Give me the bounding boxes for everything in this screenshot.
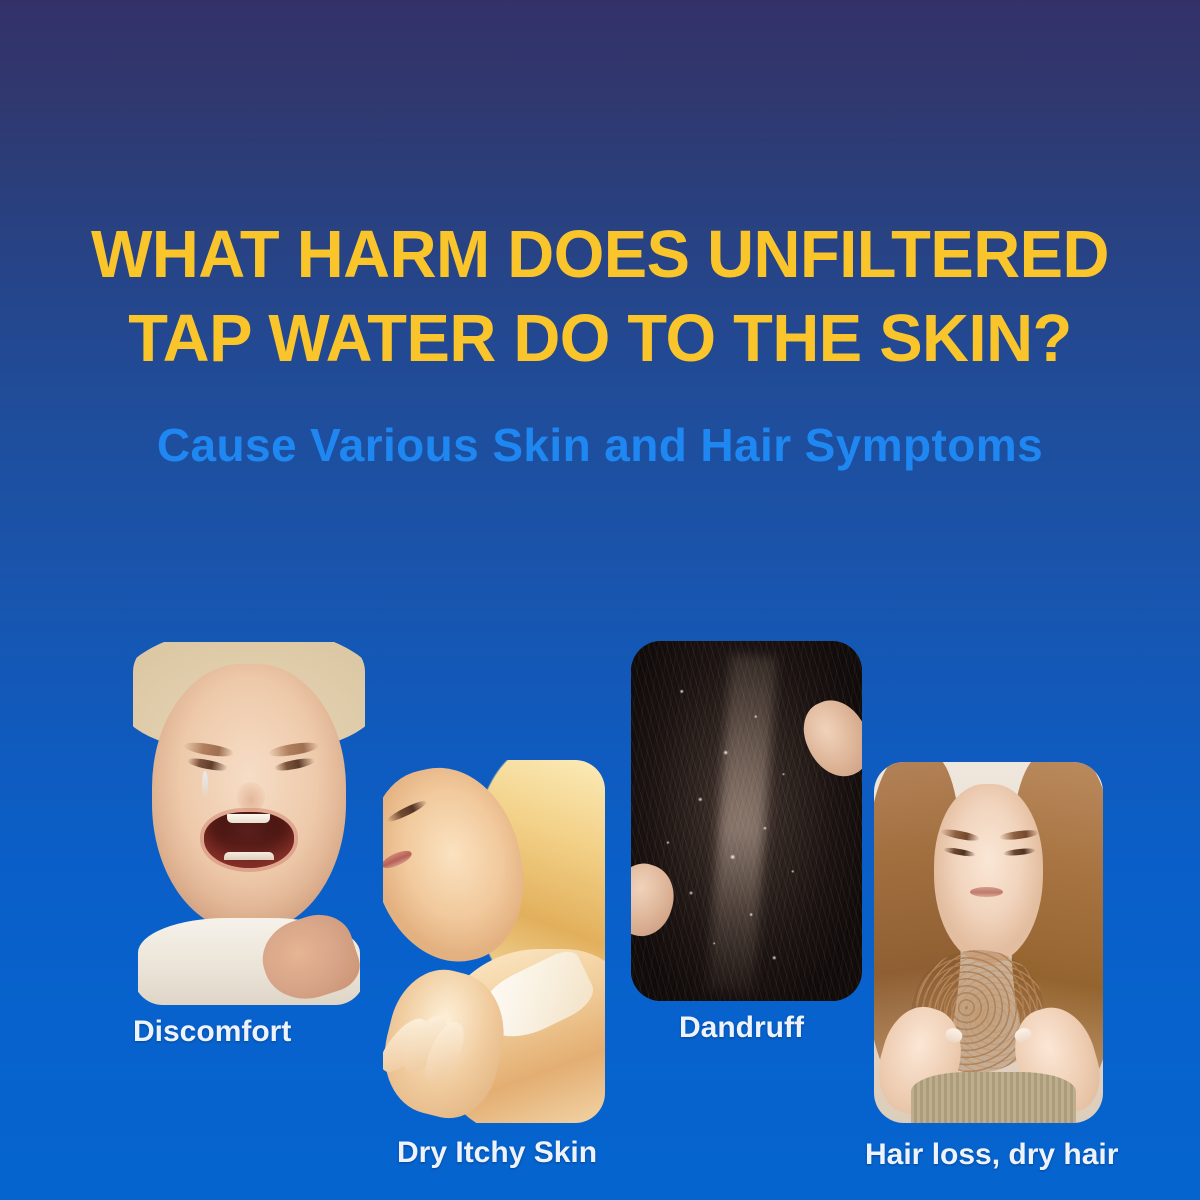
symptom-label-hair-loss: Hair loss, dry hair (865, 1137, 1118, 1173)
infographic-poster: WHAT HARM DOES UNFILTERED TAP WATER DO T… (0, 0, 1200, 1200)
symptom-card-discomfort: Discomfort (133, 642, 365, 1005)
symptom-card-dandruff: Dandruff (631, 641, 862, 1001)
symptom-label-dandruff: Dandruff (679, 1010, 804, 1046)
crying-baby-photo (133, 642, 365, 1005)
symptom-card-hair-loss: Hair loss, dry hair (874, 762, 1103, 1123)
dry-itchy-skin-photo (383, 760, 605, 1123)
symptom-label-discomfort: Discomfort (133, 1014, 291, 1050)
hair-loss-photo (874, 762, 1103, 1123)
symptom-card-dry-itchy-skin: Dry Itchy Skin (383, 760, 605, 1123)
symptom-label-dry-itchy-skin: Dry Itchy Skin (397, 1135, 597, 1171)
dandruff-scalp-photo (631, 641, 862, 1001)
symptom-card-grid: Discomfort (0, 0, 1200, 1200)
